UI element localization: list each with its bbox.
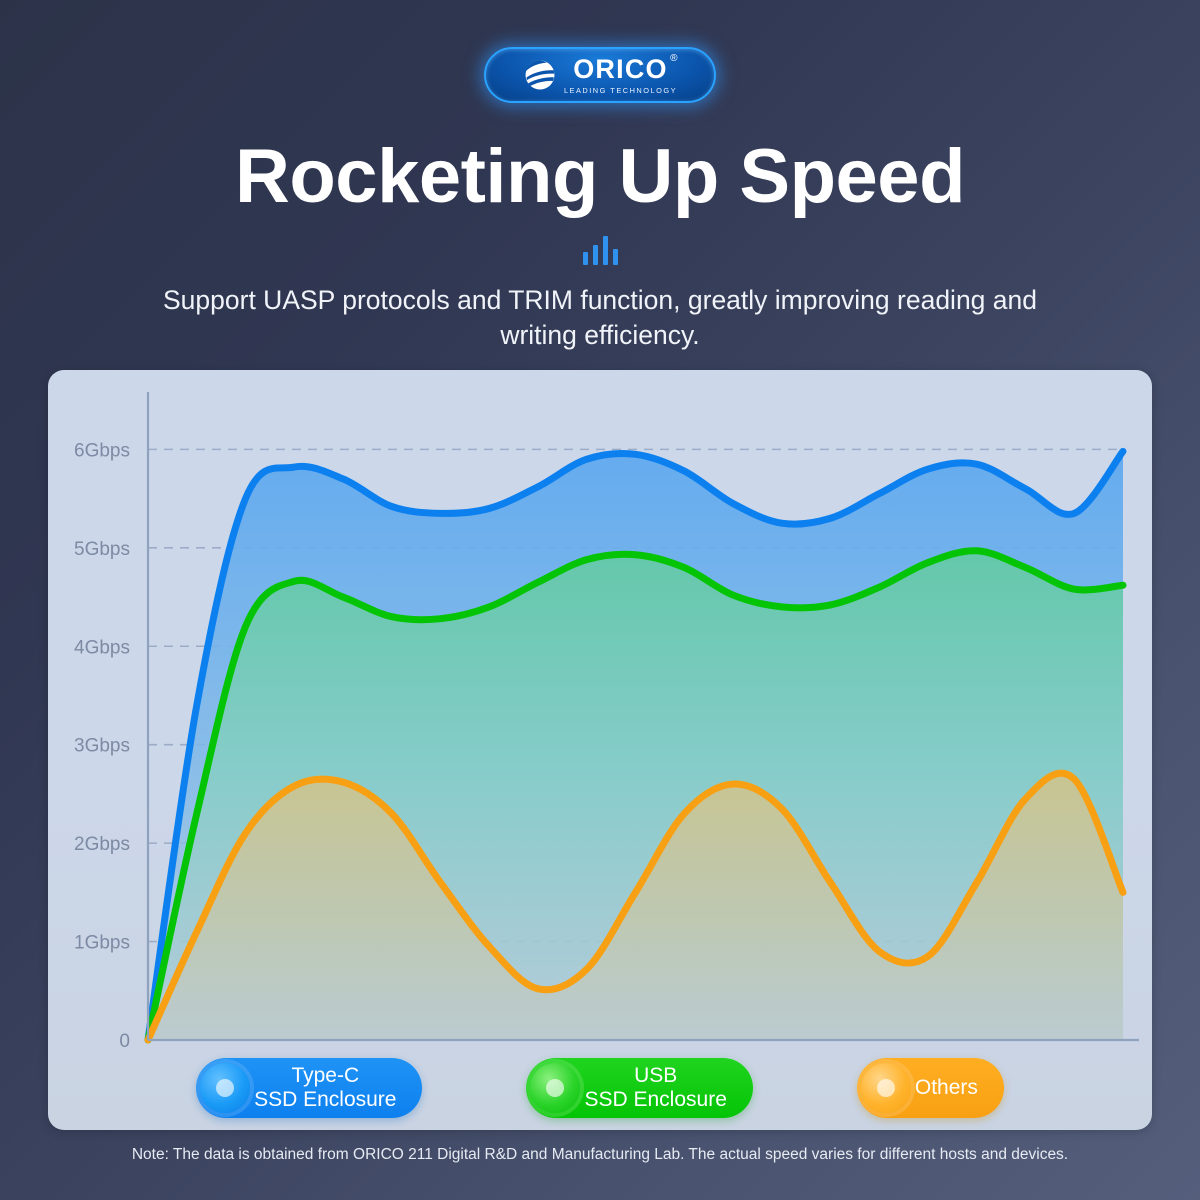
legend-label-usb: USB SSD Enclosure: [584, 1064, 726, 1111]
logo-pill: ORICO ® LEADING TECHNOLOGY: [484, 47, 716, 103]
legend-label-line1: USB: [634, 1064, 677, 1087]
logo-wordmark: ORICO ® LEADING TECHNOLOGY: [564, 56, 677, 94]
legend-label-line2: SSD Enclosure: [254, 1088, 396, 1111]
legend-dot-icon: [861, 1063, 911, 1113]
svg-text:5Gbps: 5Gbps: [74, 539, 130, 560]
legend-item-others[interactable]: Others: [857, 1058, 1004, 1118]
svg-text:4Gbps: 4Gbps: [74, 637, 130, 658]
speed-area-chart: 01Gbps2Gbps3Gbps4Gbps5Gbps6Gbps: [48, 370, 1152, 1130]
divider-bar-1: [583, 252, 588, 265]
chart-legend: Type-C SSD Enclosure USB SSD Enclosure O…: [48, 1056, 1152, 1120]
legend-dot-icon: [530, 1063, 580, 1113]
svg-text:1Gbps: 1Gbps: [74, 933, 130, 954]
legend-item-type-c[interactable]: Type-C SSD Enclosure: [196, 1058, 422, 1118]
svg-text:6Gbps: 6Gbps: [74, 440, 130, 461]
legend-label-line1: Others: [915, 1076, 978, 1099]
chart-series: [148, 451, 1123, 1040]
brand-logo: ORICO ® LEADING TECHNOLOGY: [0, 47, 1200, 103]
chart-footnote: Note: The data is obtained from ORICO 21…: [40, 1146, 1160, 1164]
legend-dot-icon: [200, 1063, 250, 1113]
bar-chart-icon: [0, 233, 1200, 265]
svg-text:3Gbps: 3Gbps: [74, 736, 130, 757]
svg-text:0: 0: [119, 1031, 130, 1052]
chart-y-tick-labels: 01Gbps2Gbps3Gbps4Gbps5Gbps6Gbps: [74, 440, 130, 1052]
chart-panel: 01Gbps2Gbps3Gbps4Gbps5Gbps6Gbps: [48, 370, 1152, 1130]
registered-mark: ®: [670, 54, 679, 64]
divider-bar-2: [593, 245, 598, 265]
legend-label-line2: SSD Enclosure: [584, 1088, 726, 1111]
svg-text:2Gbps: 2Gbps: [74, 834, 130, 855]
page-title: Rocketing Up Speed: [0, 133, 1200, 220]
globe-icon: [523, 58, 557, 92]
legend-item-usb[interactable]: USB SSD Enclosure: [526, 1058, 752, 1118]
divider-bar-4: [613, 249, 618, 265]
legend-label-type-c: Type-C SSD Enclosure: [254, 1064, 396, 1111]
brand-tagline: LEADING TECHNOLOGY: [564, 87, 677, 94]
legend-label-others: Others: [915, 1076, 978, 1100]
divider-bar-3: [603, 236, 608, 265]
brand-name: ORICO: [573, 54, 668, 84]
page-subtitle: Support UASP protocols and TRIM function…: [150, 283, 1050, 353]
legend-label-line1: Type-C: [291, 1064, 359, 1087]
